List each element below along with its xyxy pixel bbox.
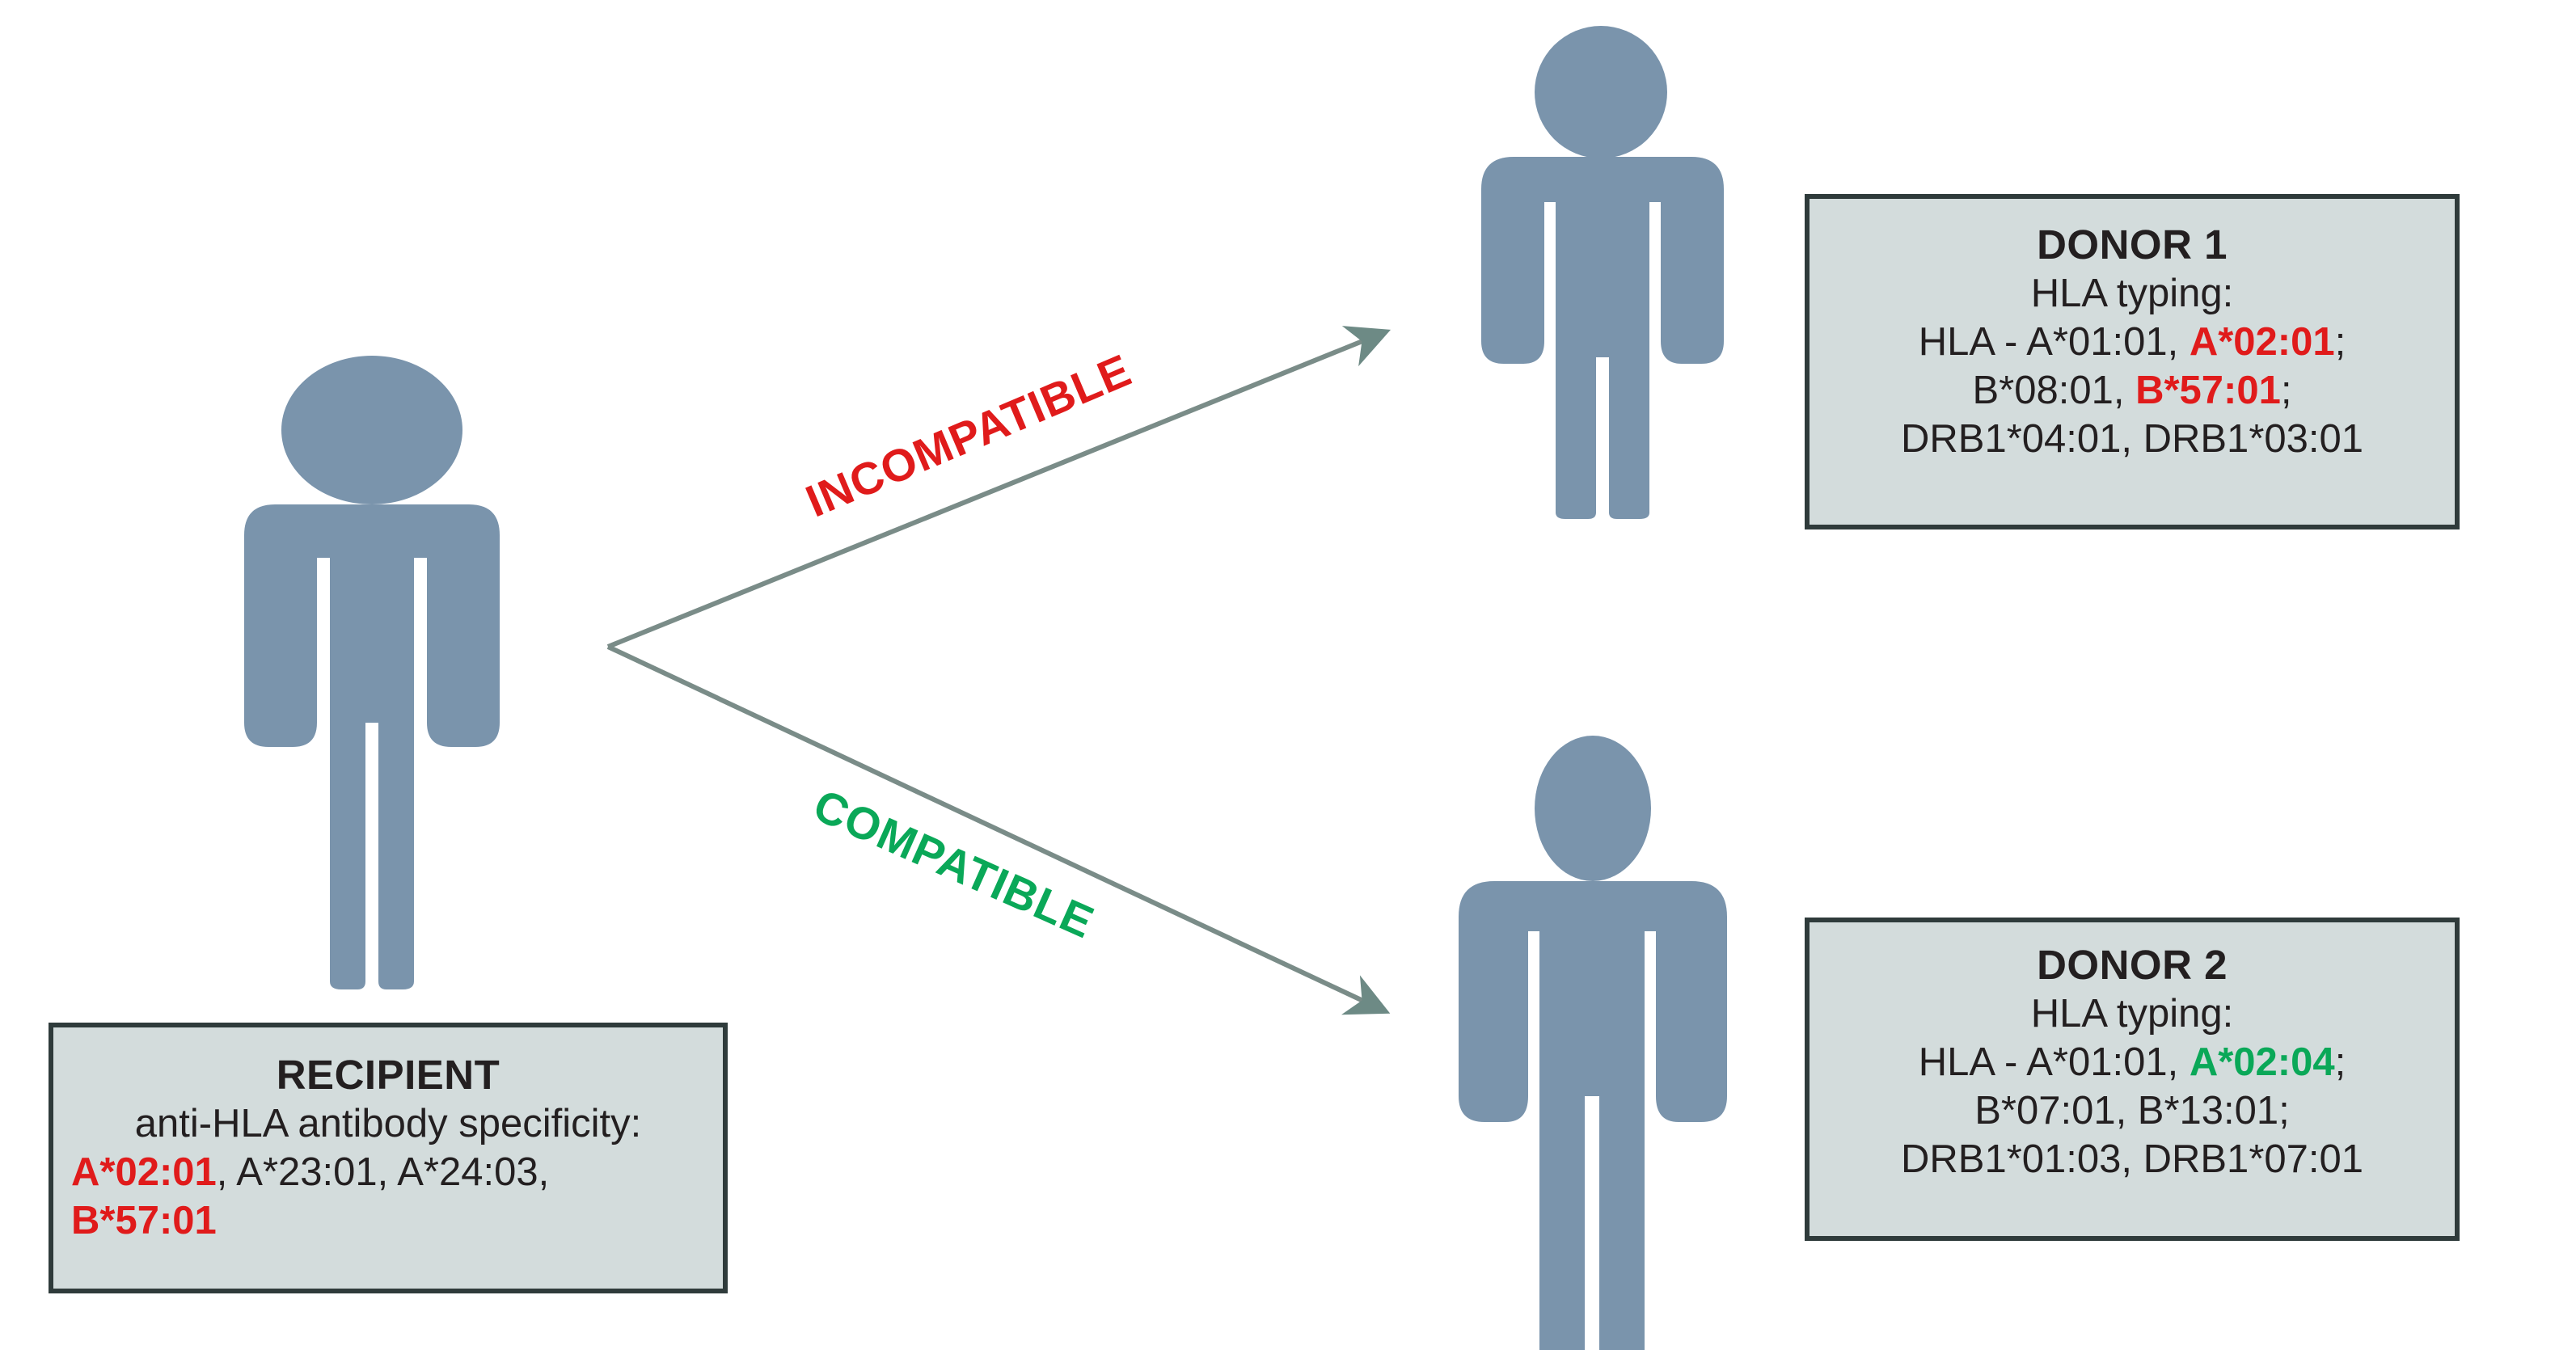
recipient-a-rest: , A*23:01, A*24:03, xyxy=(217,1150,549,1194)
donor-1-allele-line-drb1: DRB1*04:01, DRB1*03:01 xyxy=(1810,416,2455,464)
donor-1-subtitle: HLA typing: xyxy=(1810,270,2455,319)
donor-1-allele-line-a: HLA - A*01:01, A*02:01; xyxy=(1810,319,2455,367)
donor-2-a-suffix: ; xyxy=(2335,1040,2346,1084)
donor-1-b-suffix: ; xyxy=(2281,369,2292,412)
donor-2-a-prefix: HLA - A*01:01, xyxy=(1919,1040,2190,1084)
donor-1-b-prefix: B*08:01, xyxy=(1972,369,2135,412)
arrow-label-incompatible: INCOMPATIBLE xyxy=(798,344,1138,528)
recipient-info-box: RECIPIENT anti-HLA antibody specificity:… xyxy=(49,1023,728,1293)
donor-2-allele-line-a: HLA - A*01:01, A*02:04; xyxy=(1810,1039,2455,1087)
donor-1-allele-line-b: B*08:01, B*57:01; xyxy=(1810,367,2455,416)
arrow-label-compatible: COMPATIBLE xyxy=(806,778,1102,949)
donor-1-a-highlight: A*02:01 xyxy=(2190,320,2335,364)
donor-1-title: DONOR 1 xyxy=(1810,220,2455,270)
donor-1-a-prefix: HLA - A*01:01, xyxy=(1919,320,2190,364)
recipient-antibody-line-1: A*02:01, A*23:01, A*24:03, xyxy=(53,1149,723,1197)
donor-1-a-suffix: ; xyxy=(2335,320,2346,364)
donor-2-info-box: DONOR 2 HLA typing: HLA - A*01:01, A*02:… xyxy=(1805,918,2460,1241)
hla-compatibility-diagram: INCOMPATIBLE COMPATIBLE DONOR 1 HLA typi… xyxy=(0,0,2576,1350)
arrow-compatible-line xyxy=(608,647,1366,1002)
donor-2-allele-line-drb1: DRB1*01:03, DRB1*07:01 xyxy=(1810,1136,2455,1184)
arrow-incompatible-line xyxy=(608,340,1366,647)
recipient-antibody-line-2: B*57:01 xyxy=(53,1197,723,1246)
donor-2-figure xyxy=(1455,715,1767,1350)
recipient-figure xyxy=(212,343,532,989)
recipient-subtitle: anti-HLA antibody specificity: xyxy=(53,1100,723,1149)
donor-2-a-highlight: A*02:04 xyxy=(2190,1040,2335,1084)
donor-2-allele-line-b: B*07:01, B*13:01; xyxy=(1810,1087,2455,1136)
recipient-a-highlight: A*02:01 xyxy=(71,1150,217,1194)
donor-2-title: DONOR 2 xyxy=(1810,940,2455,990)
recipient-title: RECIPIENT xyxy=(53,1050,723,1100)
recipient-b-highlight: B*57:01 xyxy=(71,1199,217,1242)
donor-1-info-box: DONOR 1 HLA typing: HLA - A*01:01, A*02:… xyxy=(1805,194,2460,529)
donor-1-figure xyxy=(1449,18,1753,519)
donor-2-subtitle: HLA typing: xyxy=(1810,990,2455,1039)
donor-1-b-highlight: B*57:01 xyxy=(2135,369,2281,412)
